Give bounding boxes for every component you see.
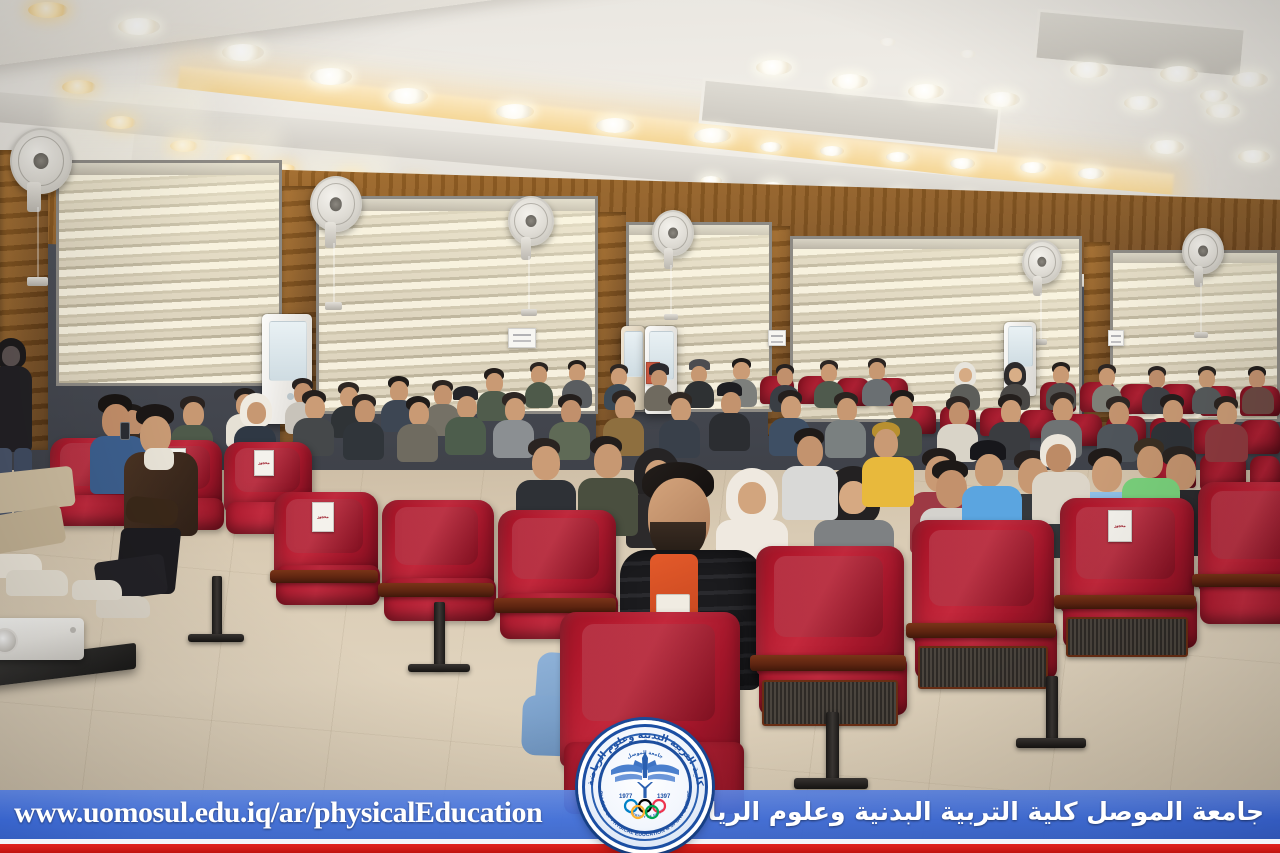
fan-cord-weight (1194, 332, 1208, 338)
projector-body (0, 618, 84, 660)
seat-base-foot (188, 634, 244, 642)
wall-fan-icon (508, 196, 554, 246)
downlight-icon (1200, 90, 1228, 102)
winged-emblem-icon (611, 752, 679, 798)
auditorium-seat[interactable] (756, 546, 904, 722)
fan-cage (1022, 240, 1062, 284)
logo-year-gregorian: 1977 (619, 794, 632, 800)
fan-cord-weight (325, 302, 343, 310)
seat-armrest (378, 583, 494, 597)
window-glow (59, 163, 279, 383)
downlight-icon (118, 18, 160, 35)
wall-fan-icon (310, 176, 362, 232)
downlight-icon (1070, 62, 1108, 78)
wall-notice-sign (1108, 330, 1124, 346)
seat-base-foot (794, 778, 868, 789)
fan-pull-cord (37, 207, 39, 280)
seat-label-text: محجوز (317, 514, 328, 520)
downlight-icon (106, 116, 136, 129)
wall-fan-icon (1022, 240, 1062, 284)
photo-scene: محجوز محجوز (0, 0, 1280, 853)
seat-label-text: محجوز (258, 460, 269, 466)
fan-cord-weight (664, 314, 678, 320)
seat-support-leg (212, 576, 222, 638)
downlight-icon (222, 44, 264, 61)
downlight-icon (496, 104, 534, 119)
seat-base-foot (408, 664, 470, 672)
downlight-icon (756, 60, 792, 75)
downlight-icon (28, 2, 68, 18)
seat-support-leg (1046, 676, 1058, 744)
fan-pull-cord (1200, 283, 1202, 334)
seat-support-leg (434, 602, 445, 668)
ceiling-soffit-left (0, 0, 706, 71)
projector-vent-icon (70, 627, 76, 633)
wall-notice-sign (768, 330, 786, 346)
logo-text-rings: كلية التربية البدنية وعلوم الرياضة COLLE… (567, 714, 723, 853)
downlight-icon (984, 92, 1020, 107)
seat-base-foot (1016, 738, 1086, 748)
fan-pull-cord (670, 265, 672, 316)
downlight-icon (1160, 66, 1198, 82)
downlight-icon (310, 68, 352, 85)
fan-cage (310, 176, 362, 232)
lanyard-badge (656, 594, 690, 614)
seat-back-panel (1066, 617, 1188, 658)
fan-cord-weight (27, 277, 48, 286)
downlight-icon (832, 74, 868, 89)
downlight-icon (388, 88, 428, 104)
projector-lens-icon (0, 628, 18, 654)
downlight-icon (908, 84, 944, 99)
wall-notice-sign (508, 328, 536, 348)
fan-cage (652, 210, 694, 256)
seat-armrest (494, 598, 616, 613)
downlight-icon (880, 38, 896, 46)
seat-label-text: محجوز (1114, 523, 1125, 529)
seat-armrest (750, 655, 906, 671)
seat-reserved-label: محجوز (1108, 510, 1132, 542)
downlight-icon (62, 80, 96, 94)
logo-year-hijri: 1397 (657, 794, 670, 800)
seat-armrest (1054, 595, 1196, 609)
downlight-icon (960, 50, 976, 58)
downlight-icon (694, 128, 731, 143)
ac-grille (1008, 326, 1032, 367)
auditorium-seat[interactable]: محجوز (274, 492, 378, 610)
ac-indicator (287, 393, 294, 400)
seat-armrest (1192, 574, 1280, 587)
wall-fan-icon (10, 128, 72, 194)
fan-cage (508, 196, 554, 246)
auditorium-seat[interactable]: محجوز (1060, 498, 1194, 654)
ceiling-recess-b (1033, 9, 1247, 80)
seat-back-panel (918, 646, 1048, 689)
fan-pull-cord (528, 256, 530, 311)
fan-pull-cord (1040, 293, 1042, 341)
window-blind[interactable] (56, 160, 282, 386)
ac-grille (269, 321, 307, 382)
fan-cage (10, 128, 72, 194)
seat-reserved-label: محجوز (254, 450, 274, 476)
fan-cage (1182, 228, 1224, 274)
seat-reserved-label: محجوز (312, 502, 334, 532)
downlight-icon (596, 118, 634, 133)
downlight-icon (1124, 96, 1158, 110)
mobile-phone-icon (120, 422, 130, 440)
institution-name-arabic: جامعة الموصل كلية التربية البدنية وعلوم … (668, 797, 1264, 826)
auditorium-seat[interactable] (1198, 482, 1280, 630)
wall-fan-icon (652, 210, 694, 256)
seat-armrest (906, 623, 1056, 638)
college-logo: كلية التربية البدنية وعلوم الرياضة COLLE… (567, 714, 723, 853)
seat-support-leg (826, 712, 839, 784)
seat-armrest (270, 570, 378, 583)
fan-cord-weight (521, 309, 537, 316)
wall-fan-icon (1182, 228, 1224, 274)
auditorium-seat[interactable] (912, 520, 1054, 686)
downlight-icon (1232, 72, 1268, 87)
downlight-icon (1206, 104, 1240, 118)
fan-pull-cord (333, 243, 335, 305)
website-url[interactable]: www.uomosul.edu.iq/ar/physicalEducation (14, 796, 542, 830)
